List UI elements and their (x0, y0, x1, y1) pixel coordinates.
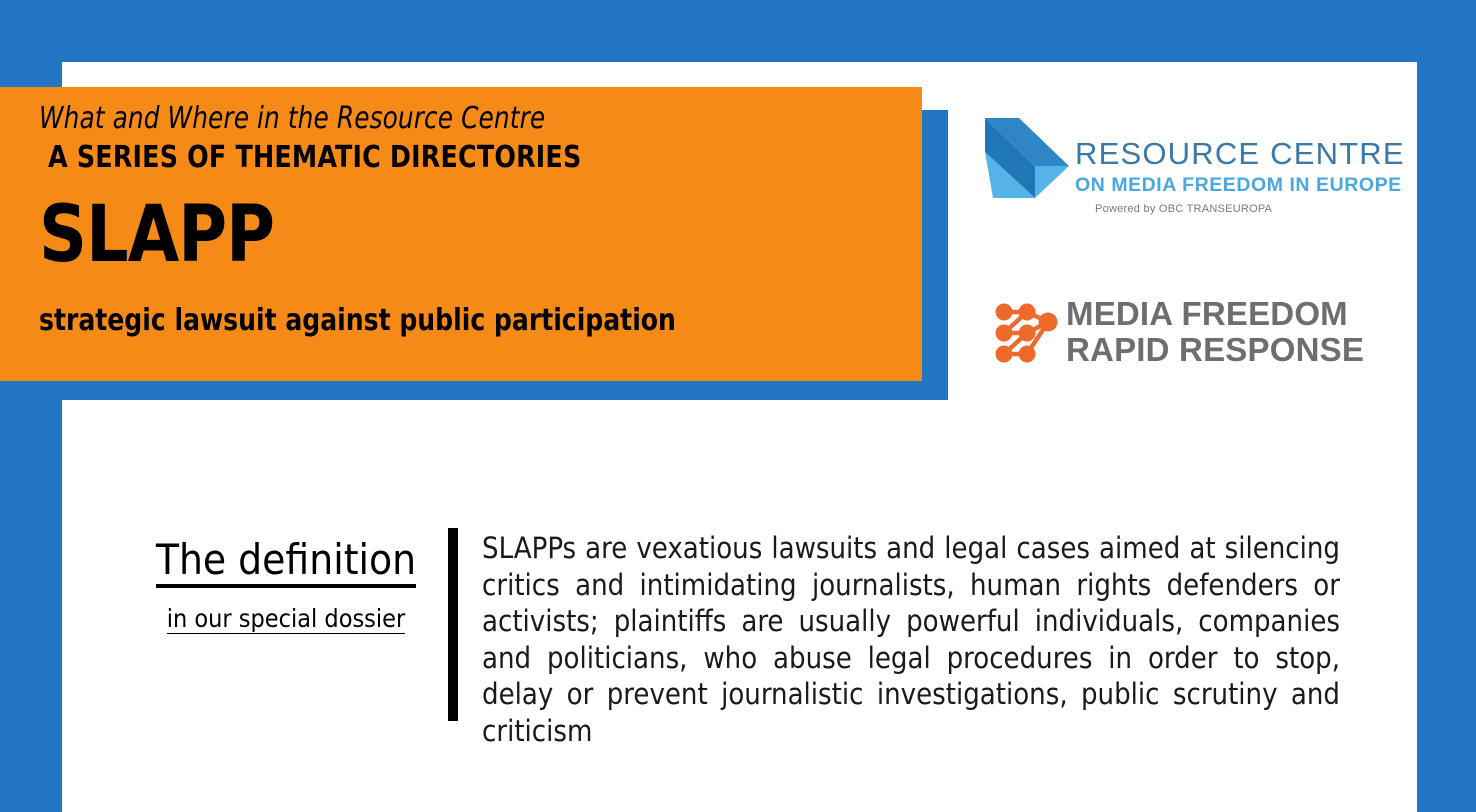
mfrr-line-1: MEDIA FREEDOM (1066, 296, 1364, 332)
definition-label: The definition in our special dossier (140, 528, 432, 634)
acronym-expansion: strategic lawsuit against public partici… (39, 304, 860, 337)
rc-subtitle: ON MEDIA FREEDOM IN EUROPE (1075, 176, 1363, 196)
resource-centre-logo-text: RESOURCE CENTRE ON MEDIA FREEDOM IN EURO… (1075, 138, 1363, 215)
definition-block: The definition in our special dossier SL… (140, 528, 1352, 786)
definition-body-text: SLAPPs are vexatious lawsuits and legal … (482, 528, 1340, 786)
chevron-arrow-icon (983, 112, 1069, 198)
mfrr-line-2: RAPID RESPONSE (1066, 332, 1364, 368)
definition-subtitle: in our special dossier (167, 606, 406, 634)
definition-vertical-rule (448, 528, 458, 721)
rc-powered-by: Powered by OBC TRANSEUROPA (1095, 204, 1363, 215)
definition-title: The definition (156, 538, 416, 588)
acronym-title: SLAPP (39, 196, 878, 274)
mfrr-logo-text: MEDIA FREEDOM RAPID RESPONSE (1066, 296, 1364, 368)
kicker-text: What and Where in the Resource Centre (39, 103, 851, 135)
series-text: A SERIES OF THEMATIC DIRECTORIES (48, 141, 870, 174)
mfrr-logo[interactable]: MEDIA FREEDOM RAPID RESPONSE (991, 298, 1363, 370)
title-band: What and Where in the Resource Centre A … (0, 87, 922, 381)
network-nodes-icon (991, 300, 1059, 366)
resource-centre-logo[interactable]: RESOURCE CENTRE ON MEDIA FREEDOM IN EURO… (983, 112, 1363, 220)
rc-title: RESOURCE CENTRE (1075, 138, 1363, 169)
slide-root: What and Where in the Resource Centre A … (0, 0, 1476, 812)
